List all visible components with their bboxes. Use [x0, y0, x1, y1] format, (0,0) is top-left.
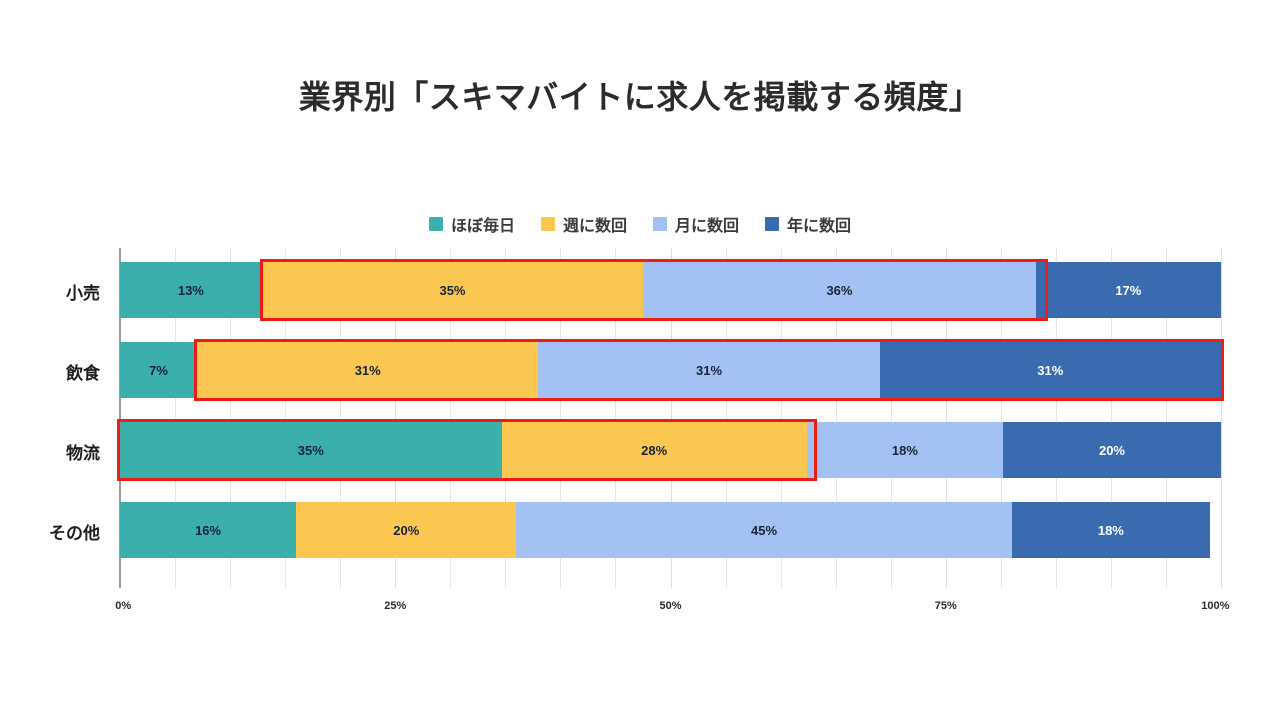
bar-segment-1-2[interactable]: 31% — [538, 342, 879, 398]
chart-legend: ほぼ毎日週に数回月に数回年に数回 — [0, 212, 1280, 236]
plot-area: 13%35%36%17%7%31%31%31%35%28%18%20%16%20… — [120, 248, 1221, 588]
chart-page: 業界別「スキマバイトに求人を掲載する頻度」 ほぼ毎日週に数回月に数回年に数回 小… — [0, 0, 1280, 720]
bar-value-label: 36% — [826, 283, 852, 298]
bar-segment-3-2[interactable]: 45% — [516, 502, 1011, 558]
x-axis-tick-label-0: 0% — [115, 600, 131, 612]
bar-value-label: 13% — [178, 283, 204, 298]
bar-value-label: 7% — [149, 363, 168, 378]
bar-value-label: 20% — [1099, 443, 1125, 458]
bar-segment-3-0[interactable]: 16% — [120, 502, 296, 558]
bar-row-0: 13%35%36%17% — [120, 262, 1221, 318]
bar-value-label: 31% — [696, 363, 722, 378]
bar-segment-0-1[interactable]: 35% — [262, 262, 644, 318]
bar-segment-0-3[interactable]: 17% — [1036, 262, 1221, 318]
bar-segment-1-3[interactable]: 31% — [880, 342, 1221, 398]
legend-label: 月に数回 — [675, 212, 739, 236]
chart-title: 業界別「スキマバイトに求人を掲載する頻度」 — [0, 72, 1280, 118]
bar-segment-2-2[interactable]: 18% — [807, 422, 1003, 478]
bar-row-3: 16%20%45%18% — [120, 502, 1221, 558]
bar-segment-1-1[interactable]: 31% — [197, 342, 538, 398]
bar-segment-3-1[interactable]: 20% — [296, 502, 516, 558]
bar-value-label: 35% — [439, 283, 465, 298]
legend-label: 年に数回 — [787, 212, 851, 236]
bar-segment-0-0[interactable]: 13% — [120, 262, 262, 318]
x-axis: 0%25%50%75%100% — [120, 592, 1221, 622]
bar-value-label: 31% — [355, 363, 381, 378]
legend-label: ほぼ毎日 — [451, 212, 515, 236]
legend-item-0[interactable]: ほぼ毎日 — [429, 212, 515, 236]
x-axis-tick-label-1: 25% — [384, 600, 406, 612]
x-axis-tick-label-4: 100% — [1201, 600, 1229, 612]
legend-swatch-icon — [541, 217, 555, 231]
bar-value-label: 16% — [195, 523, 221, 538]
legend-item-2[interactable]: 月に数回 — [653, 212, 739, 236]
bar-value-label: 17% — [1115, 283, 1141, 298]
legend-item-1[interactable]: 週に数回 — [541, 212, 627, 236]
bar-value-label: 31% — [1037, 363, 1063, 378]
bar-value-label: 35% — [298, 443, 324, 458]
bar-value-label: 28% — [641, 443, 667, 458]
y-axis-category-labels: 小売飲食物流その他 — [0, 248, 112, 588]
bar-segment-3-3[interactable]: 18% — [1012, 502, 1210, 558]
legend-item-3[interactable]: 年に数回 — [765, 212, 851, 236]
bar-segment-2-3[interactable]: 20% — [1003, 422, 1221, 478]
bar-value-label: 45% — [751, 523, 777, 538]
category-label-2: 物流 — [0, 439, 100, 464]
bar-value-label: 18% — [1098, 523, 1124, 538]
bar-segment-2-0[interactable]: 35% — [120, 422, 502, 478]
bar-row-2: 35%28%18%20% — [120, 422, 1221, 478]
bar-value-label: 20% — [393, 523, 419, 538]
legend-label: 週に数回 — [563, 212, 627, 236]
bar-segment-1-0[interactable]: 7% — [120, 342, 197, 398]
category-label-0: 小売 — [0, 279, 100, 304]
gridline — [1221, 248, 1222, 588]
legend-swatch-icon — [429, 217, 443, 231]
bar-value-label: 18% — [892, 443, 918, 458]
category-label-1: 飲食 — [0, 359, 100, 384]
category-label-3: その他 — [0, 519, 100, 544]
legend-swatch-icon — [765, 217, 779, 231]
bar-segment-0-2[interactable]: 36% — [643, 262, 1035, 318]
x-axis-tick-label-2: 50% — [659, 600, 681, 612]
bar-row-1: 7%31%31%31% — [120, 342, 1221, 398]
bar-segment-2-1[interactable]: 28% — [502, 422, 807, 478]
x-axis-tick-label-3: 75% — [935, 600, 957, 612]
legend-swatch-icon — [653, 217, 667, 231]
bar-rows: 13%35%36%17%7%31%31%31%35%28%18%20%16%20… — [120, 248, 1221, 588]
